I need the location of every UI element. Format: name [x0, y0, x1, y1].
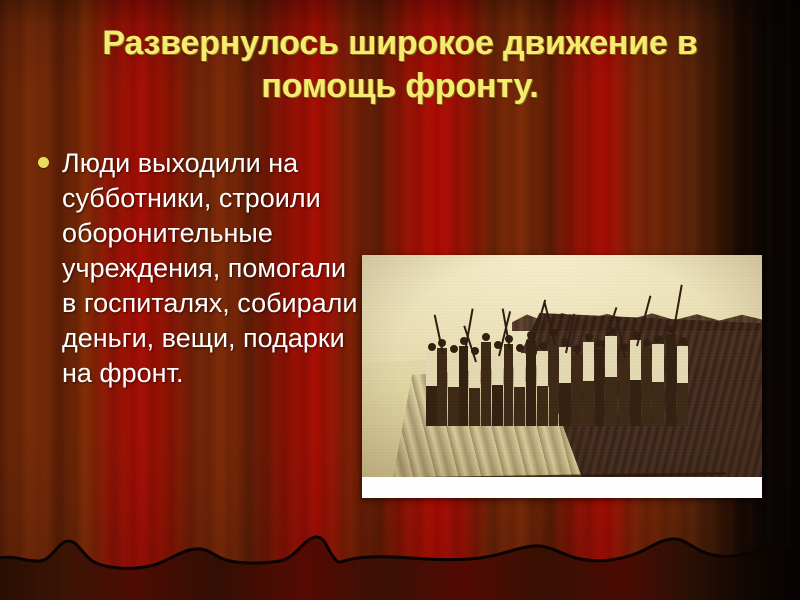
photo-crowd-of-people: [424, 301, 689, 426]
photo-person-head: [450, 345, 458, 353]
photo-person: [469, 356, 480, 426]
photo-person-head: [585, 333, 593, 341]
photo-person-head: [654, 335, 662, 343]
slide-body: Люди выходили на субботники, строили обо…: [38, 146, 358, 391]
bullet-dot-icon: [38, 157, 49, 168]
photo-person: [448, 354, 459, 426]
photo-person: [605, 336, 617, 426]
slide-title: Развернулось широкое движение в помощь ф…: [36, 22, 764, 108]
photo-person: [652, 344, 664, 426]
photo-person: [426, 352, 437, 426]
photo-person: [677, 346, 688, 426]
bullet-list-item: Люди выходили на субботники, строили обо…: [38, 146, 358, 391]
torn-edge-shape: [0, 528, 800, 600]
photo-person-shirt: [583, 342, 594, 381]
photo-person: [666, 334, 676, 426]
photo-person-head: [539, 342, 547, 350]
torn-edge-band: [0, 528, 800, 600]
photo-person-shirt: [677, 346, 688, 383]
photo-person-head: [573, 345, 581, 353]
photo-person: [619, 352, 629, 426]
presentation-slide: Развернулось широкое движение в помощь ф…: [0, 0, 800, 600]
photo-person-head: [428, 343, 436, 351]
photo-person: [504, 344, 513, 426]
photo-person: [481, 342, 491, 426]
photo-person: [492, 350, 503, 426]
photo-person: [549, 338, 558, 426]
historical-photo-image: [362, 255, 762, 483]
photo-person-head: [516, 344, 524, 352]
photo-person: [537, 351, 548, 426]
photo-person-shirt: [537, 351, 548, 386]
photo-person-head: [482, 333, 490, 341]
photo-person: [459, 346, 468, 426]
photo-person: [583, 342, 594, 426]
photo-person: [642, 348, 651, 426]
photo-person-shirt: [605, 336, 617, 377]
photo-person-shirt: [630, 340, 641, 380]
photo-person: [437, 348, 447, 426]
photo-bottom-white-strip: [362, 477, 762, 498]
bullet-item-text: Люди выходили на субботники, строили обо…: [62, 146, 358, 391]
photo-person-head: [679, 337, 687, 345]
photo-person: [595, 349, 604, 426]
photo-person: [559, 347, 571, 426]
photo-person-head: [607, 327, 615, 335]
photo-frame: [362, 255, 762, 498]
photo-person-shirt: [448, 354, 459, 387]
photo-person-shirt: [426, 352, 437, 386]
photo-person: [514, 353, 525, 426]
photo-person: [526, 340, 536, 426]
photo-person-shirt: [514, 353, 525, 387]
photo-person: [572, 354, 582, 426]
photo-person: [630, 340, 641, 426]
photo-person-head: [643, 339, 651, 347]
photo-person-shirt: [652, 344, 664, 382]
